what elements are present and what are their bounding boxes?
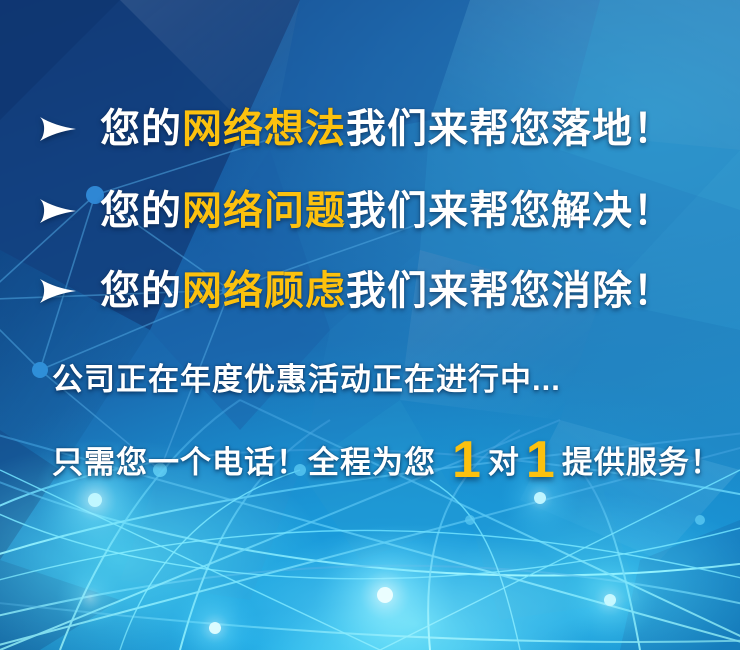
headline-2-prefix: 您的 xyxy=(100,189,182,233)
headline-1-accent: 网络想法 xyxy=(182,107,346,151)
headline-1: 您的网络想法我们来帮您落地！ xyxy=(100,109,674,149)
subline-service-mid: 对 xyxy=(488,447,520,478)
banner-content: 您的网络想法我们来帮您落地！ 您的网络问题我们来帮您解决！ 您的网络顾虑我们来帮… xyxy=(0,0,740,650)
subline-promo: 公司正在年度优惠活动正在进行中... xyxy=(52,364,561,395)
headline-3-accent: 网络顾虑 xyxy=(182,269,346,313)
subline-service-part1: 只需您一个电话！全程为您 xyxy=(52,447,436,478)
headline-2: 您的网络问题我们来帮您解决！ xyxy=(100,191,674,231)
bullet-row-1: 您的网络想法我们来帮您落地！ xyxy=(38,100,674,158)
headline-1-suffix: 我们来帮您落地！ xyxy=(346,107,674,151)
headline-3-prefix: 您的 xyxy=(100,269,182,313)
bullet-row-2: 您的网络问题我们来帮您解决！ xyxy=(38,182,674,240)
arrow-right-icon xyxy=(38,196,78,226)
bullet-row-3: 您的网络顾虑我们来帮您消除！ xyxy=(38,262,674,320)
headline-3-suffix: 我们来帮您消除！ xyxy=(346,269,674,313)
headline-1-prefix: 您的 xyxy=(100,107,182,151)
promo-banner: 您的网络想法我们来帮您落地！ 您的网络问题我们来帮您解决！ 您的网络顾虑我们来帮… xyxy=(0,0,740,650)
arrow-right-icon xyxy=(38,276,78,306)
arrow-right-icon xyxy=(38,114,78,144)
subline-service: 只需您一个电话！全程为您 1 对 1 提供服务！ xyxy=(52,430,722,482)
headline-3: 您的网络顾虑我们来帮您消除！ xyxy=(100,271,674,311)
number-one-second: 1 xyxy=(520,434,562,486)
subline-service-part2: 提供服务！ xyxy=(562,447,722,478)
number-one-first: 1 xyxy=(446,434,488,486)
headline-2-accent: 网络问题 xyxy=(182,189,346,233)
headline-2-suffix: 我们来帮您解决！ xyxy=(346,189,674,233)
